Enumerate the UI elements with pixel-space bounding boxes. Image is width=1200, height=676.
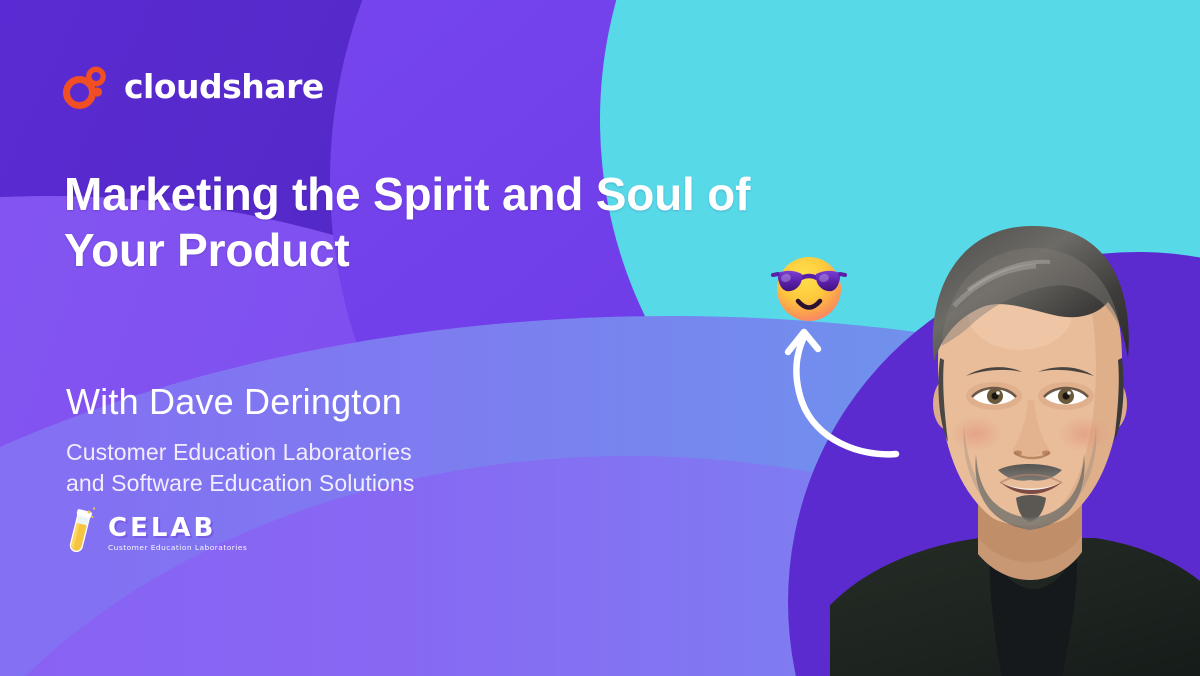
webinar-title-slide: cloudshare Marketing the Spirit and Soul…	[0, 0, 1200, 676]
speaker-name: With Dave Derington	[66, 380, 414, 423]
celab-tagline: Customer Education Laboratories	[108, 544, 247, 551]
test-tube-icon	[58, 506, 102, 560]
speaker-org-line-1: Customer Education Laboratories	[66, 437, 414, 467]
celab-wordmark: CELAB	[108, 515, 247, 541]
speaker-block: With Dave Derington Customer Education L…	[66, 380, 414, 498]
curved-arrow-up-left-icon	[768, 318, 918, 468]
cloudshare-wordmark: cloudshare	[124, 70, 324, 103]
cloudshare-logo[interactable]: cloudshare	[62, 62, 324, 110]
cloudshare-bubbles-icon	[62, 62, 110, 110]
page-title: Marketing the Spirit and Soul of Your Pr…	[64, 166, 804, 278]
speaker-organization: Customer Education Laboratories and Soft…	[66, 437, 414, 498]
celab-text-block: CELAB Customer Education Laboratories	[108, 515, 247, 551]
celab-logo[interactable]: CELAB Customer Education Laboratories	[58, 506, 247, 560]
smiling-face-with-sunglasses-icon	[768, 248, 850, 328]
speaker-org-line-2: and Software Education Solutions	[66, 468, 414, 498]
